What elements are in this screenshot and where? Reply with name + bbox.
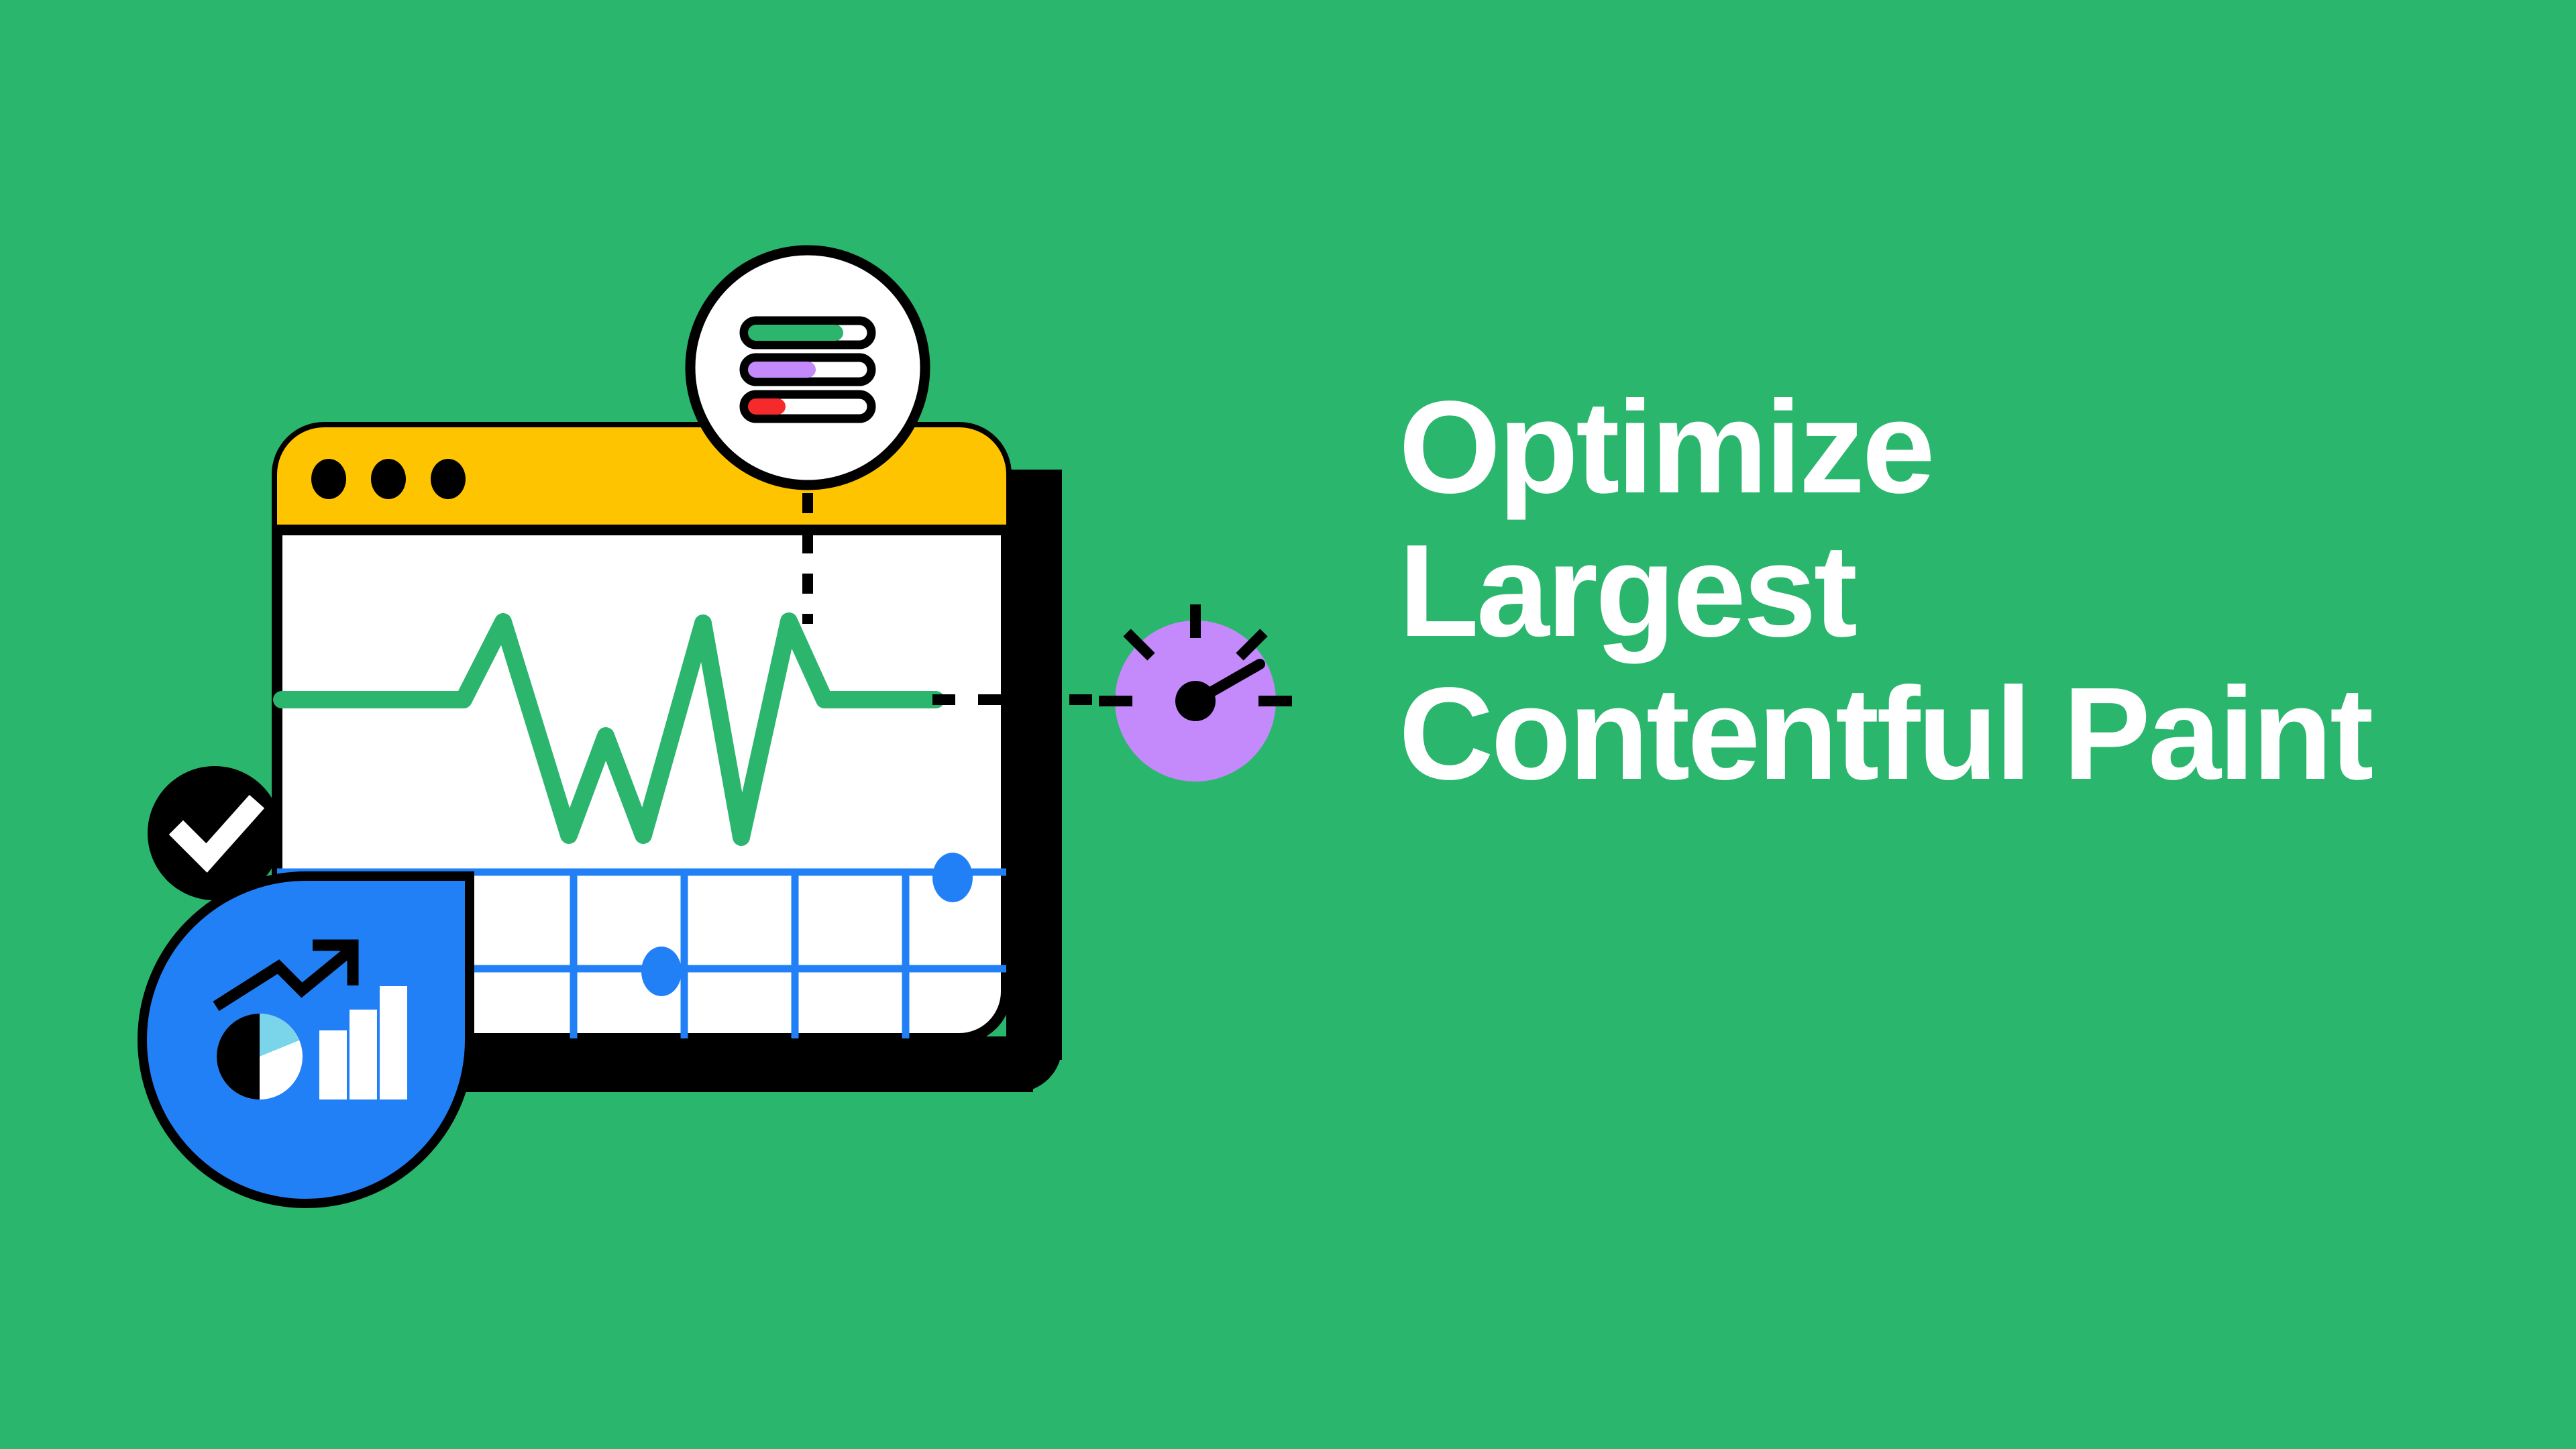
window-shadow-fill-bottom [443,1036,1033,1092]
analytics-badge[interactable] [142,876,470,1203]
page-title: Optimize Largest Contentful Paint [1399,376,2405,806]
traffic-light-dot-2[interactable] [371,459,406,499]
badge-bar-2 [350,1010,377,1099]
needs-improvement-metric-fill [748,362,816,378]
window-shadow-fill [1006,470,1062,1060]
traffic-light-dot-1[interactable] [311,459,346,499]
good-metric-fill [748,325,843,341]
metrics-popover[interactable] [690,250,925,485]
illustration-canvas: Optimize Largest Contentful Paint [0,0,2576,1449]
analytics-badge-shape [142,876,470,1203]
data-point-upper[interactable] [932,853,973,902]
traffic-light-dot-3[interactable] [431,459,466,499]
badge-bar-1 [319,1030,347,1099]
badge-bar-3 [380,986,407,1099]
poor-metric-fill [748,398,786,415]
gauge-hub [1175,681,1216,721]
data-point-lower[interactable] [641,947,682,996]
badge-pie-chart [217,1014,303,1099]
needs-improvement-metric-bar [744,358,871,382]
poor-metric-bar [744,394,871,419]
good-metric-bar [744,321,871,345]
